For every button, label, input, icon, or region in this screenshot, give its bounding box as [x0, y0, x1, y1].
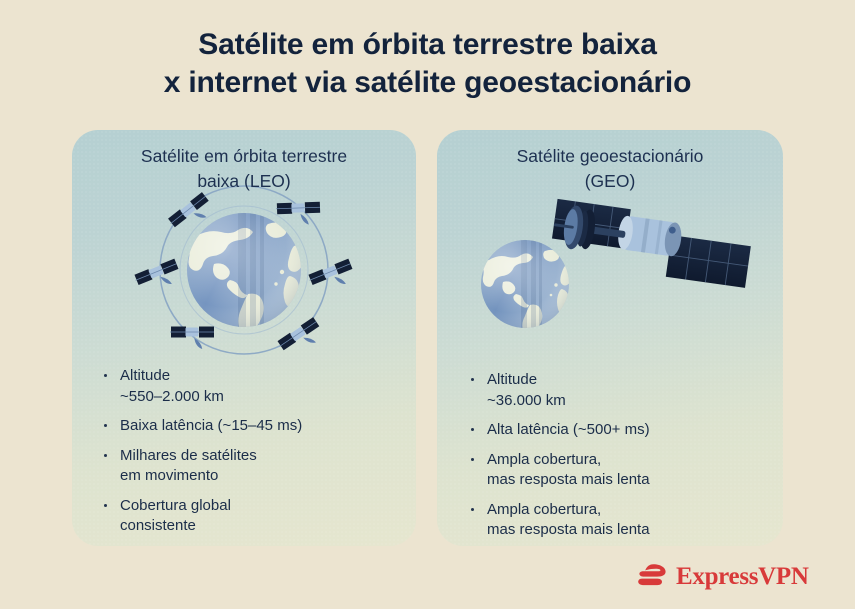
panel-geo-heading: Satélite geoestacionário (GEO) [455, 144, 765, 194]
expressvpn-wordmark: ExpressVPN [676, 563, 809, 591]
page-title-line-2: x internet via satélite geoestacionário [0, 64, 855, 102]
bullet-text-line-2: em movimento [120, 466, 400, 487]
panel-leo-heading-line-2: baixa (LEO) [90, 169, 398, 194]
bullet-text-line-2: consistente [120, 516, 400, 537]
expressvpn-logo[interactable]: ExpressVPN [637, 560, 789, 594]
infographic-root: Satélite em órbita terrestre baixa x int… [0, 0, 855, 609]
bullet-text-line-1: Alta latência (~500+ ms) [487, 421, 650, 438]
bullet-text-line-1: Cobertura global [120, 497, 231, 514]
bullet-text-line-2: ~36.000 km [487, 391, 767, 412]
expressvpn-e-logo-icon [637, 563, 667, 591]
page-title-line-1: Satélite em órbita terrestre baixa [0, 26, 855, 64]
bullet-text-line-1: Altitude [487, 371, 537, 388]
page-title: Satélite em órbita terrestre baixa x int… [0, 26, 855, 102]
bullet-text-line-1: Ampla cobertura, [487, 451, 601, 468]
list-item: Milhares de satélites em movimento [100, 446, 400, 487]
bullet-text-line-1: Milhares de satélites [120, 447, 257, 464]
panel-leo-heading-line-1: Satélite em órbita terrestre [90, 144, 398, 169]
list-item: Cobertura global consistente [100, 496, 400, 537]
panel-leo: Satélite em órbita terrestre baixa (LEO) [72, 130, 416, 546]
bullet-text-line-2: ~550–2.000 km [120, 387, 400, 408]
bullet-text-line-1: Baixa latência (~15–45 ms) [120, 417, 302, 434]
bullet-text-line-1: Altitude [120, 367, 170, 384]
bullet-text-line-1: Ampla cobertura, [487, 501, 601, 518]
list-item: Ampla cobertura, mas resposta mais lenta [467, 500, 767, 541]
earth-globe-geo [480, 238, 573, 335]
panel-leo-heading: Satélite em órbita terrestre baixa (LEO) [90, 144, 398, 194]
panel-geo-bullet-list: Altitude ~36.000 km Alta latência (~500+… [467, 370, 767, 546]
bullet-text-line-2: mas resposta mais lenta [487, 470, 767, 491]
leo-illustration [118, 180, 370, 360]
panel-geo-heading-line-1: Satélite geoestacionário [455, 144, 765, 169]
panel-geo-heading-line-2: (GEO) [455, 169, 765, 194]
panel-leo-bullet-list: Altitude ~550–2.000 km Baixa latência (~… [100, 366, 400, 546]
list-item: Alta latência (~500+ ms) [467, 420, 767, 441]
list-item: Baixa latência (~15–45 ms) [100, 416, 400, 437]
list-item: Ampla cobertura, mas resposta mais lenta [467, 450, 767, 491]
earth-globe-leo [185, 213, 306, 333]
bullet-text-line-2: mas resposta mais lenta [487, 520, 767, 541]
list-item: Altitude ~550–2.000 km [100, 366, 400, 407]
panel-geo: Satélite geoestacionário (GEO) [437, 130, 783, 546]
list-item: Altitude ~36.000 km [467, 370, 767, 411]
